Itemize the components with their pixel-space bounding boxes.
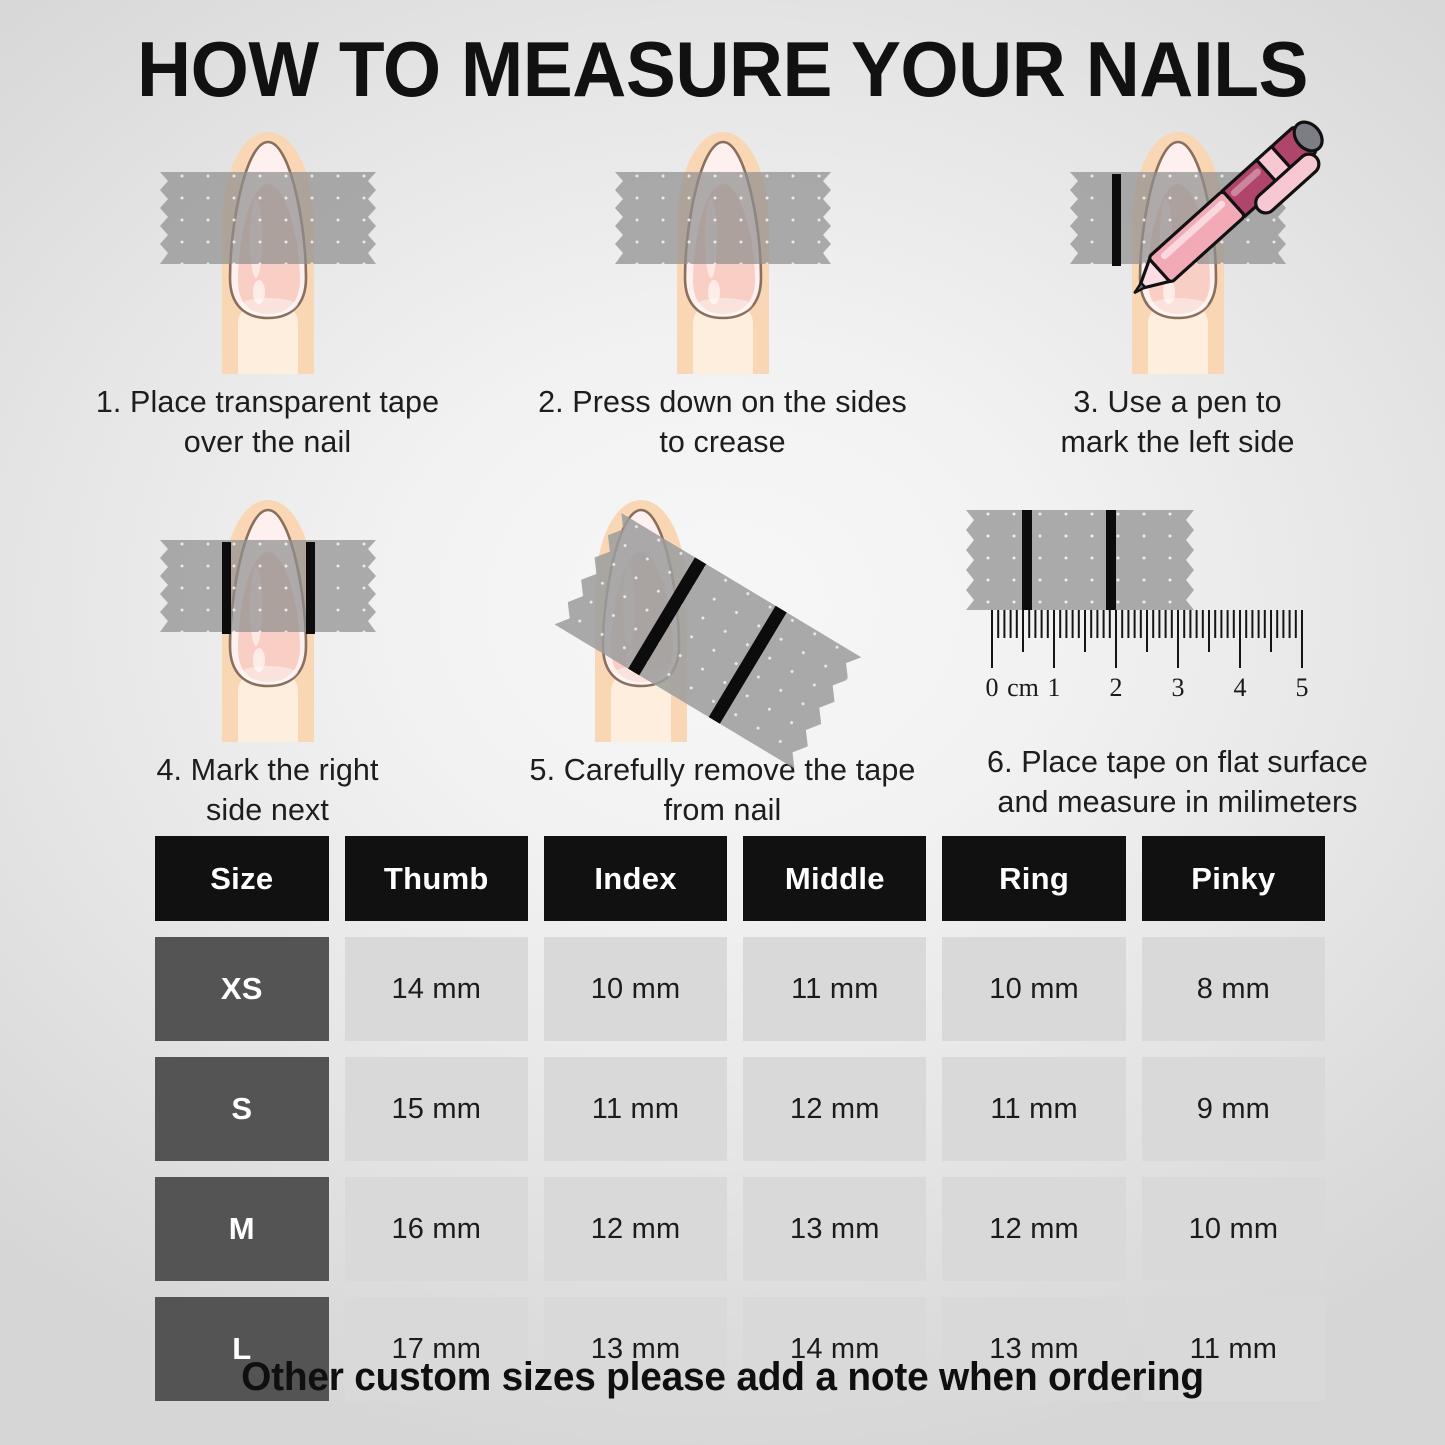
step-2-caption-line2: to crease xyxy=(659,425,785,459)
tape-strip-icon xyxy=(152,172,384,264)
steps-row-bottom: 4. Mark the right side next xyxy=(40,480,1405,830)
table-row: XS 14 mm 10 mm 11 mm 10 mm 8 mm xyxy=(155,937,1325,1041)
step-3: 3. Use a pen to mark the left side xyxy=(950,112,1405,462)
step-6-caption-line2: and measure in milimeters xyxy=(997,785,1357,819)
pen-icon xyxy=(1100,110,1350,310)
table-header-middle: Middle xyxy=(743,836,926,921)
step-4-caption-line1: 4. Mark the right xyxy=(156,753,378,787)
step-3-caption-line2: mark the left side xyxy=(1060,425,1294,459)
table-header-index: Index xyxy=(544,836,727,921)
step-2: 2. Press down on the sides to crease xyxy=(495,112,950,462)
step-4-caption: 4. Mark the right side next xyxy=(40,742,495,830)
step-5-caption-line2: from nail xyxy=(664,793,782,827)
ruler-tick-label: 4 xyxy=(1234,673,1247,702)
ruler-unit-label: cm xyxy=(1007,673,1039,702)
size-label-xs: XS xyxy=(155,937,329,1041)
tape-strip-icon xyxy=(152,540,384,632)
cell-m-thumb: 16 mm xyxy=(345,1177,528,1281)
step-6-illustration: 0 cm 1 2 3 4 5 xyxy=(950,480,1405,742)
cell-s-middle: 12 mm xyxy=(743,1057,926,1161)
steps-row-top: 1. Place transparent tape over the nail xyxy=(40,112,1405,462)
step-6-caption-line1: 6. Place tape on flat surface xyxy=(987,745,1368,779)
table-header-size: Size xyxy=(155,836,329,921)
page-title: HOW TO MEASURE YOUR NAILS xyxy=(29,26,1416,112)
table-header-row: Size Thumb Index Middle Ring Pinky xyxy=(155,836,1325,921)
step-3-illustration xyxy=(950,112,1405,374)
step-6: 0 cm 1 2 3 4 5 6. Place tape on flat xyxy=(950,480,1405,830)
step-5-caption-line1: 5. Carefully remove the tape xyxy=(530,753,916,787)
size-label-s: S xyxy=(155,1057,329,1161)
cell-xs-pinky: 8 mm xyxy=(1142,937,1325,1041)
pen-mark-right xyxy=(306,542,315,634)
table-row: S 15 mm 11 mm 12 mm 11 mm 9 mm xyxy=(155,1057,1325,1161)
cell-m-middle: 13 mm xyxy=(743,1177,926,1281)
cell-s-ring: 11 mm xyxy=(942,1057,1125,1161)
step-4-caption-line2: side next xyxy=(206,793,329,827)
step-5-caption: 5. Carefully remove the tape from nail xyxy=(495,742,950,830)
table-header-thumb: Thumb xyxy=(345,836,528,921)
step-1-caption-line2: over the nail xyxy=(184,425,351,459)
cell-m-ring: 12 mm xyxy=(942,1177,1125,1281)
step-5-illustration xyxy=(495,480,950,742)
cell-xs-middle: 11 mm xyxy=(743,937,926,1041)
table-row: M 16 mm 12 mm 13 mm 12 mm 10 mm xyxy=(155,1177,1325,1281)
cell-xs-ring: 10 mm xyxy=(942,937,1125,1041)
step-1-caption: 1. Place transparent tape over the nail xyxy=(40,374,495,462)
footer-note: Other custom sizes please add a note whe… xyxy=(22,1355,1424,1400)
cell-s-index: 11 mm xyxy=(544,1057,727,1161)
table-header-pinky: Pinky xyxy=(1142,836,1325,921)
table-header-ring: Ring xyxy=(942,836,1125,921)
ruler-tick-label: 5 xyxy=(1296,673,1309,702)
ruler-tick-label: 0 xyxy=(986,673,999,702)
ruler-tick-label: 2 xyxy=(1110,673,1123,702)
step-5: 5. Carefully remove the tape from nail xyxy=(495,480,950,830)
cell-xs-index: 10 mm xyxy=(544,937,727,1041)
size-label-m: M xyxy=(155,1177,329,1281)
cell-m-pinky: 10 mm xyxy=(1142,1177,1325,1281)
step-1: 1. Place transparent tape over the nail xyxy=(40,112,495,462)
infographic-page: HOW TO MEASURE YOUR NAILS xyxy=(0,0,1445,1445)
steps-section: 1. Place transparent tape over the nail xyxy=(40,112,1405,830)
cell-xs-thumb: 14 mm xyxy=(345,937,528,1041)
ruler-tick-label: 1 xyxy=(1048,673,1061,702)
pen-mark-left xyxy=(222,542,231,634)
step-4: 4. Mark the right side next xyxy=(40,480,495,830)
ruler-icon: 0 cm 1 2 3 4 5 xyxy=(950,480,1405,742)
size-chart-table: Size Thumb Index Middle Ring Pinky XS 14… xyxy=(155,836,1325,1401)
cell-s-pinky: 9 mm xyxy=(1142,1057,1325,1161)
cell-s-thumb: 15 mm xyxy=(345,1057,528,1161)
step-3-caption-line1: 3. Use a pen to xyxy=(1073,385,1281,419)
ruler-tick-label: 3 xyxy=(1172,673,1185,702)
tape-strip-icon xyxy=(607,172,839,264)
step-2-caption: 2. Press down on the sides to crease xyxy=(495,374,950,462)
step-1-illustration xyxy=(40,112,495,374)
step-2-illustration xyxy=(495,112,950,374)
step-2-caption-line1: 2. Press down on the sides xyxy=(538,385,907,419)
cell-m-index: 12 mm xyxy=(544,1177,727,1281)
step-1-caption-line1: 1. Place transparent tape xyxy=(96,385,439,419)
step-6-caption: 6. Place tape on flat surface and measur… xyxy=(950,742,1405,822)
step-4-illustration xyxy=(40,480,495,742)
step-3-caption: 3. Use a pen to mark the left side xyxy=(950,374,1405,462)
